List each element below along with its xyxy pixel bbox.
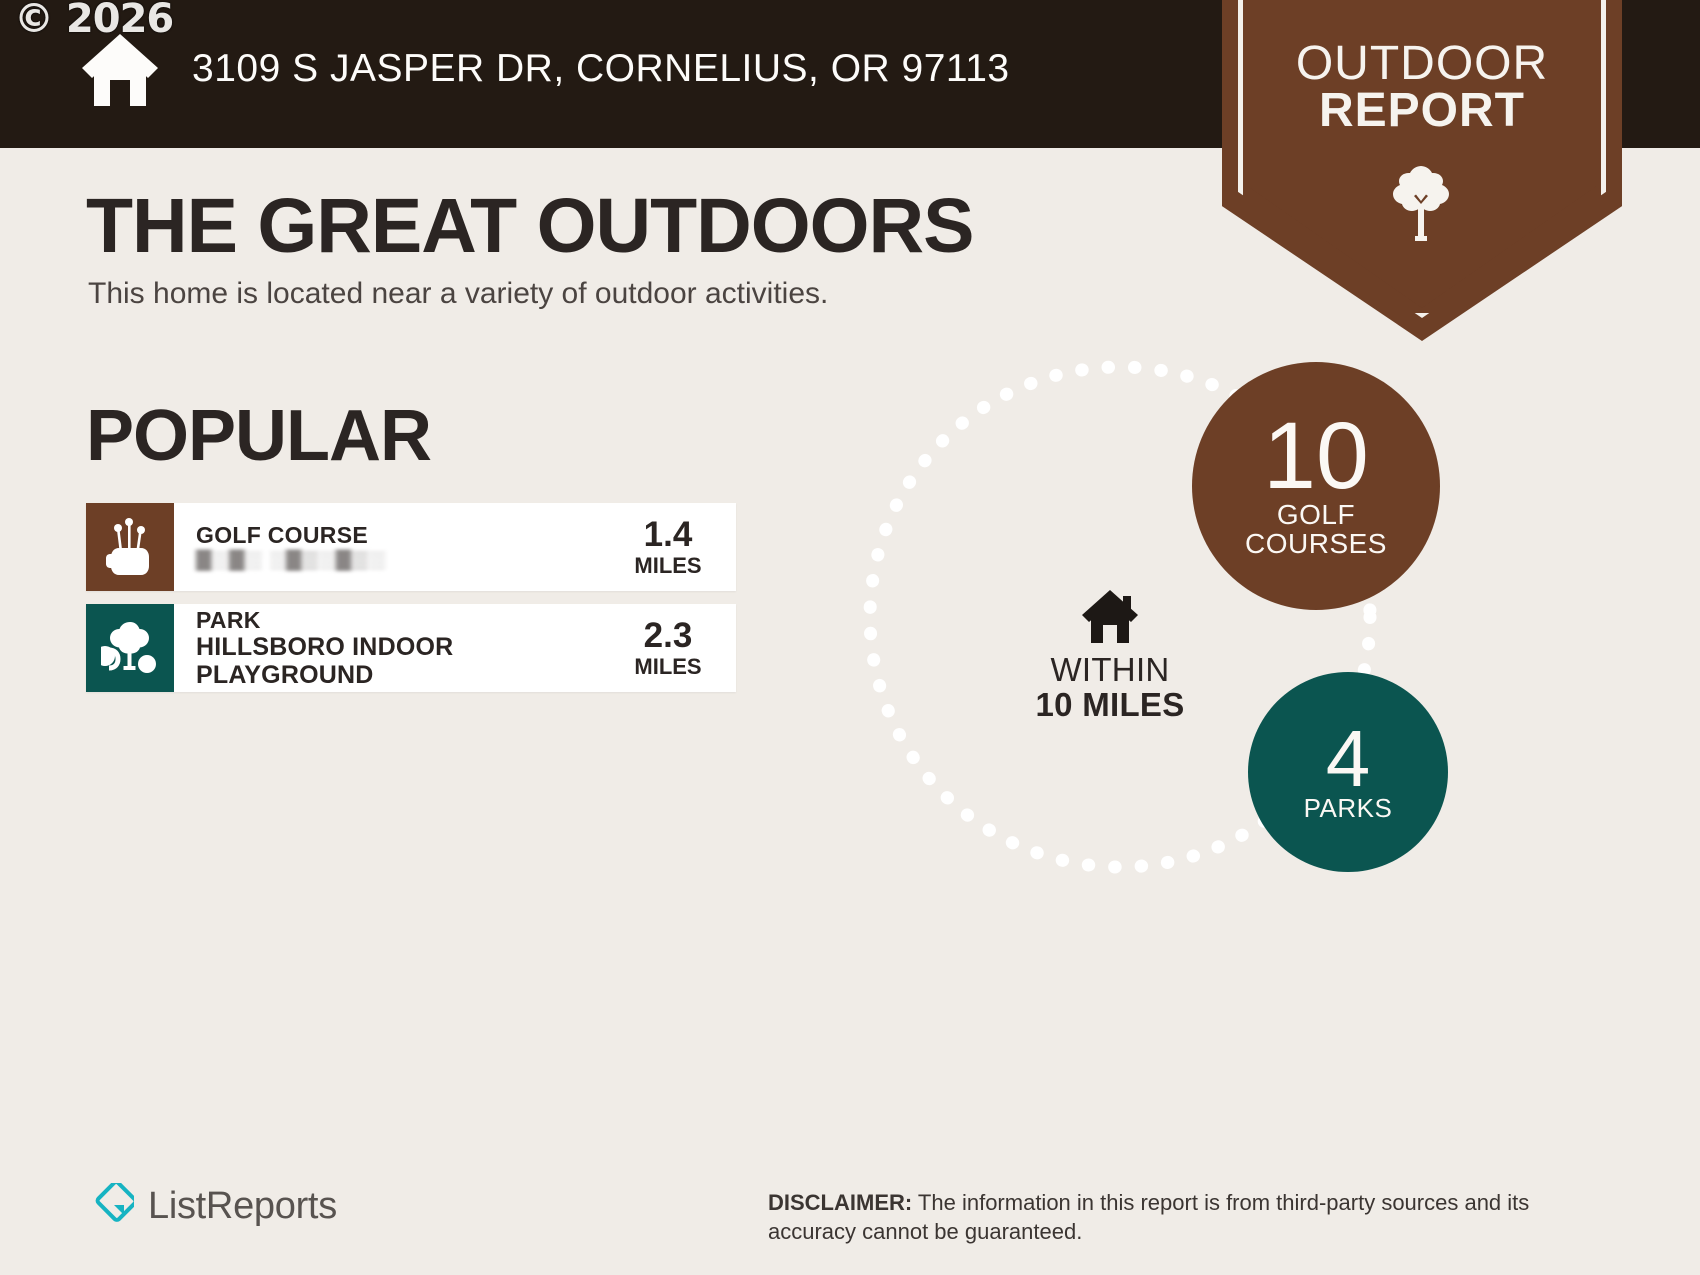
- stat-count: 10: [1263, 413, 1369, 500]
- list-item-distance: 1.4 MILES: [622, 517, 726, 577]
- park-tree-icon: [86, 604, 174, 692]
- center-label-group: WITHIN 10 MILES: [1015, 587, 1205, 723]
- list-item-text: PARK HILLSBORO INDOOR PLAYGROUND: [196, 607, 622, 689]
- list-item-category: PARK: [196, 607, 622, 633]
- distance-value: 2.3: [622, 618, 714, 655]
- home-icon: [1015, 587, 1205, 645]
- list-item-name: █░█░ ░█▒░█▒░: [196, 550, 622, 570]
- popular-list: GOLF COURSE █░█░ ░█▒░█▒░ 1.4 MILES PA: [86, 503, 736, 705]
- stat-bubble-parks: 4 PARKS: [1248, 672, 1448, 872]
- listreports-logo-text: ListReports: [148, 1185, 337, 1228]
- stat-label-line2: COURSES: [1245, 530, 1387, 559]
- listreports-house-icon: [88, 1183, 134, 1229]
- distance-unit: MILES: [622, 655, 714, 678]
- page-subtitle: This home is located near a variety of o…: [88, 277, 828, 311]
- stat-label-line1: PARKS: [1304, 795, 1393, 822]
- disclaimer-label: DISCLAIMER:: [768, 1190, 912, 1215]
- golf-bag-icon: [86, 503, 174, 591]
- badge-line-2: REPORT: [1238, 87, 1606, 134]
- header-address-group: 3109 S JASPER DR, CORNELIUS, OR 97113: [78, 30, 1010, 108]
- disclaimer: DISCLAIMER: The information in this repo…: [768, 1188, 1578, 1247]
- popular-heading: POPULAR: [86, 395, 431, 477]
- stat-label-line1: GOLF: [1277, 501, 1355, 530]
- distance-value: 1.4: [622, 517, 714, 554]
- distance-unit: MILES: [622, 554, 714, 577]
- proximity-diagram: WITHIN 10 MILES 10 GOLF COURSES 4 PARKS: [840, 355, 1480, 935]
- property-address: 3109 S JASPER DR, CORNELIUS, OR 97113: [192, 47, 1010, 91]
- list-item[interactable]: GOLF COURSE █░█░ ░█▒░█▒░ 1.4 MILES: [86, 503, 736, 591]
- badge-line-1: OUTDOOR: [1238, 40, 1606, 87]
- within-label: WITHIN: [1015, 653, 1205, 688]
- list-item-text: GOLF COURSE █░█░ ░█▒░█▒░: [196, 522, 622, 573]
- stat-count: 4: [1326, 722, 1371, 796]
- listreports-logo[interactable]: ListReports: [88, 1183, 337, 1229]
- list-item-category: GOLF COURSE: [196, 522, 622, 548]
- list-item-body: GOLF COURSE █░█░ ░█▒░█▒░ 1.4 MILES: [174, 503, 736, 591]
- list-item-body: PARK HILLSBORO INDOOR PLAYGROUND 2.3 MIL…: [174, 604, 736, 692]
- within-value: 10 MILES: [1015, 688, 1205, 723]
- copyright-watermark: © 2026: [14, 0, 173, 42]
- list-item-name: HILLSBORO INDOOR PLAYGROUND: [196, 633, 622, 690]
- list-item-distance: 2.3 MILES: [622, 618, 726, 678]
- page-title: THE GREAT OUTDOORS: [86, 182, 973, 271]
- list-item[interactable]: PARK HILLSBORO INDOOR PLAYGROUND 2.3 MIL…: [86, 604, 736, 692]
- stat-bubble-golf-courses: 10 GOLF COURSES: [1192, 362, 1440, 610]
- badge-text: OUTDOOR REPORT: [1238, 40, 1606, 134]
